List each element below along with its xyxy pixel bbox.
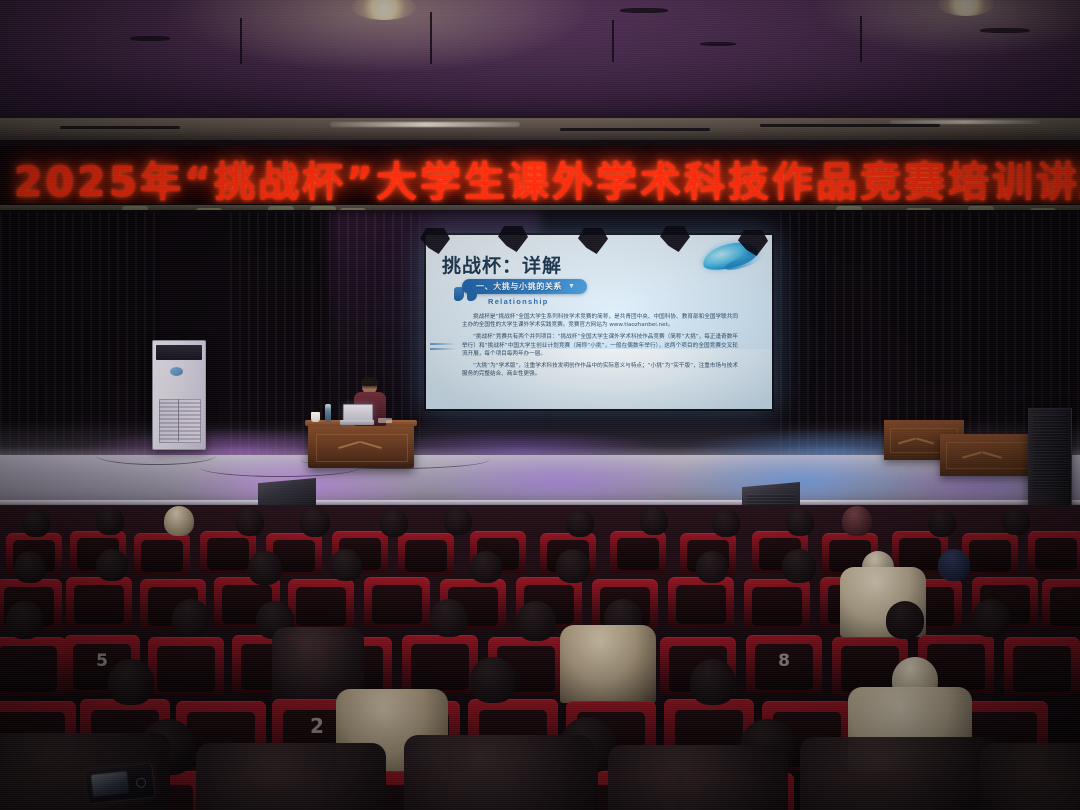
theater-seat: [610, 531, 666, 573]
theater-seat: [288, 579, 354, 629]
slide-section-subtitle: Relationship: [488, 297, 549, 306]
auditorium-photo: 2025年“挑战杯”大学生课外学术科技作品竞赛培训讲座 挑战杯：详解 一、大挑与…: [0, 0, 1080, 810]
audience-head: [164, 506, 194, 536]
theater-seat: [134, 533, 190, 575]
audience-person-foreground: [800, 737, 1000, 810]
seat-number: 8: [746, 651, 822, 671]
audience-person-foreground: [196, 743, 386, 810]
camera-shutter-icon: [136, 777, 147, 788]
audience-head: [712, 509, 740, 537]
audience-head: [444, 507, 472, 535]
slide-paragraph: “大挑”为“学术版”，注重学术科技发明创作作品中的实际意义与特点；“小挑”为“实…: [462, 362, 738, 378]
slide-paragraph: 挑战杯是“挑战杯”全国大学生系列科技学术竞赛的简称，是共青团中央、中国科协、教育…: [462, 313, 738, 329]
theater-seat: [364, 577, 430, 627]
audience-head: [782, 549, 816, 583]
speaker-tower: [1028, 408, 1072, 510]
slide-title: 挑战杯：详解: [442, 251, 562, 278]
audience-head: [248, 551, 282, 585]
desk-paper: [378, 418, 392, 423]
audience-area: 5 8 2: [0, 505, 1080, 810]
audience-head: [1002, 507, 1030, 535]
audience-head: [556, 549, 590, 583]
truss-wire: [60, 126, 180, 129]
audience-head: [696, 551, 728, 583]
audience-head: [972, 599, 1010, 637]
ceiling-rod: [430, 12, 432, 64]
audience-person-foreground: [608, 745, 788, 810]
truss-wire: [760, 124, 940, 127]
slide-section-pill: 一、大挑与小挑的关系 ▼: [462, 279, 587, 294]
projection-screen: 挑战杯：详解 一、大挑与小挑的关系 ▼ Relationship 挑战杯是“挑战…: [424, 233, 774, 411]
truss-light-strip: [330, 122, 520, 127]
audience-head: [938, 549, 970, 581]
theater-seat: [148, 637, 224, 695]
truss-wire: [560, 128, 710, 131]
theater-seat: [1028, 531, 1080, 573]
audience-head: [236, 508, 264, 536]
audience-head: [886, 601, 924, 639]
audience-head: [566, 509, 594, 537]
presentation-slide: 挑战杯：详解 一、大挑与小挑的关系 ▼ Relationship 挑战杯是“挑战…: [426, 235, 772, 409]
slide-paragraph: “挑战杯”竞赛共有两个并列项目：“挑战杯”全国大学生课外学术科技作品竞赛（简称“…: [462, 333, 738, 358]
presenter-desk: [308, 424, 414, 468]
slide-side-marker: [430, 348, 456, 350]
theater-seat: [744, 579, 810, 629]
audience-head: [470, 551, 502, 583]
phone-screen: [91, 771, 129, 797]
wooden-podium: [940, 434, 1036, 476]
audience-head: [470, 657, 516, 703]
audience-head: [640, 507, 668, 535]
chevron-down-icon: ▼: [568, 283, 575, 290]
ceiling-rod: [240, 18, 242, 64]
audience-head: [928, 509, 956, 537]
theater-seat: [1004, 637, 1080, 695]
smartphone[interactable]: [84, 763, 155, 805]
laptop: [340, 404, 374, 426]
audience-head: [516, 601, 556, 641]
audience-head: [14, 551, 46, 583]
audience-head: [786, 508, 814, 536]
ceiling-rod: [612, 20, 614, 62]
ceiling-cable: [700, 42, 736, 46]
led-banner: 2025年“挑战杯”大学生课外学术科技作品竞赛培训讲座: [0, 146, 1080, 204]
slide-side-marker: [430, 343, 456, 345]
banner-title: 2025年“挑战杯”大学生课外学术科技作品竞赛培训讲座: [14, 148, 1080, 204]
theater-seat: [402, 635, 478, 693]
audience-head: [108, 659, 154, 705]
theater-seat: [66, 577, 132, 627]
audience-head: [842, 506, 872, 536]
ceiling-rod: [860, 16, 862, 62]
theater-seat: [962, 533, 1018, 575]
air-conditioner-unit: [152, 340, 206, 450]
theater-seat: [398, 533, 454, 575]
ceiling-cable: [130, 36, 170, 41]
audience-person-foreground: [404, 735, 594, 810]
paper-cup: [311, 412, 320, 422]
theater-seat: [668, 577, 734, 627]
slide-body-text: 挑战杯是“挑战杯”全国大学生系列科技学术竞赛的简称，是共青团中央、中国科协、教育…: [462, 313, 738, 382]
theater-seat: [0, 637, 66, 695]
audience-head: [380, 509, 408, 537]
theater-seat: 8: [746, 635, 822, 693]
audience-head: [330, 549, 362, 581]
audience-head: [22, 509, 50, 537]
water-bottle: [325, 404, 331, 422]
audience-person-foreground: [980, 743, 1080, 810]
theater-seat: [1042, 579, 1080, 629]
ceiling-cable: [620, 8, 668, 13]
audience-person: [560, 625, 656, 703]
audience-head: [96, 507, 124, 535]
audience-head: [6, 601, 44, 639]
audience-head: [300, 507, 330, 537]
slide-section-label: 一、大挑与小挑的关系: [476, 281, 562, 292]
audience-head: [172, 599, 210, 637]
audience-head: [690, 659, 736, 705]
ceiling-cable: [980, 28, 1030, 33]
ceiling: [0, 0, 1080, 128]
audience-head: [430, 599, 468, 637]
audience-head: [96, 549, 128, 581]
